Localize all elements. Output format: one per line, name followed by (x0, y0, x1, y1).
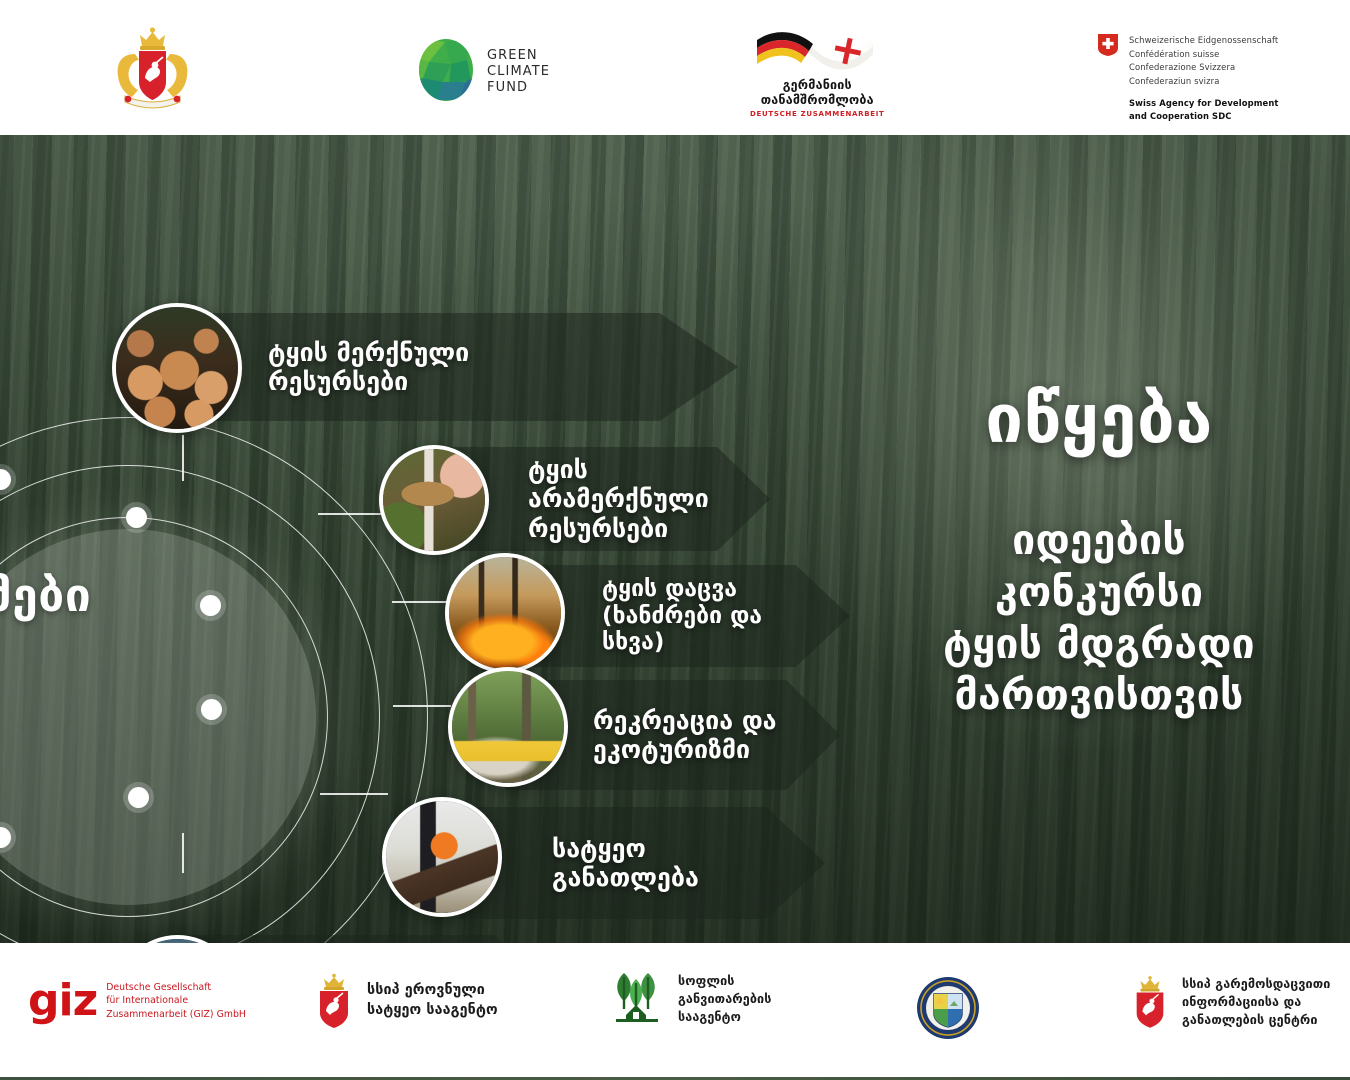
german-cooperation-de-label: DEUTSCHE ZUSAMMENARBEIT (750, 110, 885, 118)
forest-fire-photo (449, 557, 561, 669)
topic-label-non-timber: ტყის არამერქნული რესურსები (528, 455, 709, 543)
german-cooperation-ka-label: გერმანიის თანამშრომლობა (761, 78, 874, 108)
gcf-wordmark: GREEN CLIMATE FUND (487, 48, 550, 96)
environmental-centre-name: სსიპ გარემოსდაცვითი ინფორმაციისა და განა… (1182, 975, 1330, 1029)
swiss-agency-name: Swiss Agency for Development and Coopera… (1129, 97, 1279, 122)
giz-full-name: Deutsche Gesellschaft für Internationale… (106, 981, 246, 1021)
connector-6 (182, 833, 184, 873)
trees-house-icon (608, 971, 666, 1027)
poster-root: GREEN CLIMATE FUND გერმანიის თანამშრომლო… (0, 0, 1350, 1080)
orbit-node-2 (126, 507, 147, 528)
gcf-globe-icon (415, 38, 477, 106)
ministry-seal-logo (916, 976, 980, 1044)
topic-arrow-education[interactable]: სატყეო განათლება (460, 807, 825, 919)
topic-thumbnail-timber[interactable] (112, 303, 242, 433)
ministry-seal-icon (916, 976, 980, 1044)
topic-thumbnail-recreation[interactable] (448, 667, 568, 787)
orbit-node-5 (128, 787, 149, 808)
german-georgian-flag-ribbon-icon (753, 30, 881, 78)
rural-development-agency-logo: სოფლის განვითარების სააგენტო (608, 971, 771, 1027)
topic-arrow-non-timber[interactable]: ტყის არამერქნული რესურსები (440, 447, 770, 551)
orbit-node-3 (200, 595, 221, 616)
giz-wordmark-icon: giz (28, 983, 97, 1019)
government-of-georgia-logo (105, 26, 200, 114)
main-forest-panel: თემები ტყის მერქნული რესურსები ტყის არამ… (0, 135, 1350, 943)
georgia-coat-of-arms-small-icon-2 (1130, 975, 1170, 1029)
connector-1 (182, 435, 184, 481)
connector-4 (393, 705, 451, 707)
page-title: იწყება (868, 385, 1330, 453)
topic-thumbnail-education[interactable] (382, 797, 502, 917)
georgia-coat-of-arms-small-icon (313, 973, 355, 1029)
headline-block: იწყება იდეების კონკურსი ტყის მდგრადი მარ… (868, 385, 1330, 722)
swiss-agency-sdc-logo: Schweizerische Eidgenossenschaft Confédé… (1098, 34, 1279, 123)
connector-5 (320, 793, 388, 795)
camping-tent-photo (452, 671, 564, 783)
german-cooperation-logo: გერმანიის თანამშრომლობა DEUTSCHE ZUSAMME… (750, 30, 885, 118)
topic-label-protection: ტყის დაცვა (ხანძრები და სხვა) (602, 576, 788, 657)
rural-development-agency-name: სოფლის განვითარების სააგენტო (678, 972, 771, 1026)
topic-thumbnail-protection[interactable] (445, 553, 565, 673)
topic-thumbnail-non-timber[interactable] (379, 445, 489, 555)
mushroom-picking-photo (383, 449, 485, 551)
green-climate-fund-logo: GREEN CLIMATE FUND (415, 38, 550, 106)
bottom-partner-logo-bar: giz Deutsche Gesellschaft für Internatio… (0, 943, 1350, 1077)
environmental-info-education-centre-logo: სსიპ გარემოსდაცვითი ინფორმაციისა და განა… (1130, 975, 1330, 1029)
topic-label-timber: ტყის მერქნული რესურსები (268, 338, 469, 397)
top-partner-logo-bar: GREEN CLIMATE FUND გერმანიის თანამშრომლო… (0, 0, 1350, 135)
national-forestry-agency-logo: სსიპ ეროვნული სატყეო სააგენტო (313, 973, 498, 1029)
orbit-node-4 (201, 699, 222, 720)
national-forestry-agency-name: სსიპ ეროვნული სატყეო სააგენტო (367, 981, 498, 1020)
stacked-logs-photo (116, 307, 238, 429)
page-subtitle: იდეების კონკურსი ტყის მდგრადი მართვისთვი… (868, 515, 1330, 722)
connector-2 (318, 513, 388, 515)
hub-label: თემები (0, 407, 194, 783)
topic-label-education: სატყეო განათლება (552, 834, 699, 893)
topic-orbit-diagram: თემები (0, 407, 438, 943)
swiss-confederation-lines: Schweizerische Eidgenossenschaft Confédé… (1129, 34, 1279, 88)
topic-label-recreation: რეკრეაცია და ეკოტურიზმი (593, 706, 777, 765)
giz-logo: giz Deutsche Gesellschaft für Internatio… (28, 981, 246, 1021)
georgia-coat-of-arms-icon (105, 26, 200, 114)
chainsaw-worker-photo (386, 801, 498, 913)
connector-3 (392, 601, 450, 603)
topic-arrow-timber[interactable]: ტყის მერქნული რესურსები (178, 313, 738, 421)
swiss-cross-icon (1098, 34, 1118, 60)
